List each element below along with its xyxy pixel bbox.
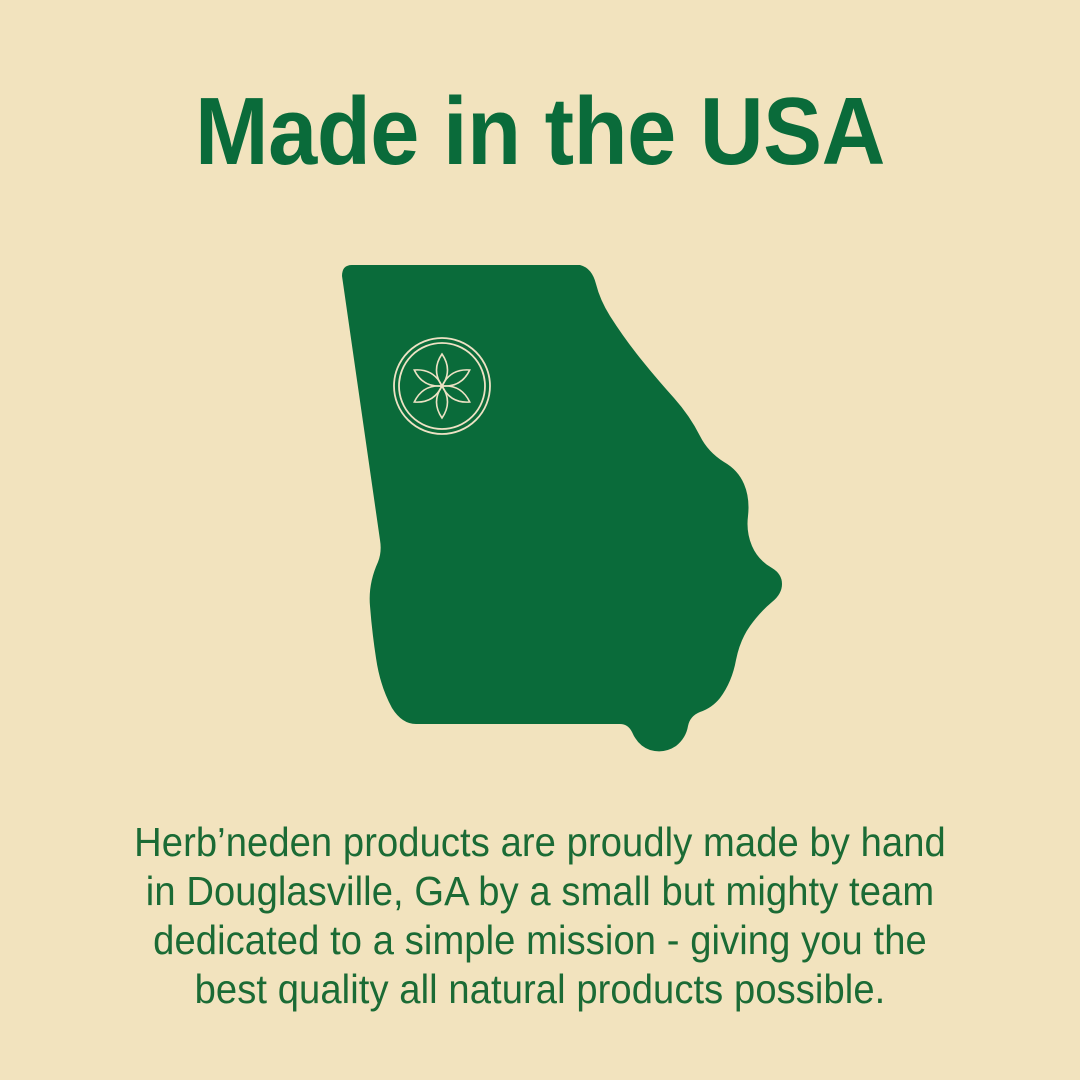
georgia-map-svg <box>320 240 820 770</box>
description-line-3: dedicated to a simple mission - giving y… <box>94 916 987 965</box>
page-title: Made in the USA <box>43 78 1037 186</box>
poster-canvas: Made in the USA He <box>0 0 1080 1080</box>
description-paragraph: Herb’neden products are proudly made by … <box>60 818 1020 1014</box>
georgia-state-shape <box>342 265 782 751</box>
description-line-4: best quality all natural products possib… <box>94 965 987 1014</box>
georgia-state-map <box>320 240 820 770</box>
description-line-2: in Douglasville, GA by a small but might… <box>94 867 987 916</box>
description-line-1: Herb’neden products are proudly made by … <box>94 818 987 867</box>
